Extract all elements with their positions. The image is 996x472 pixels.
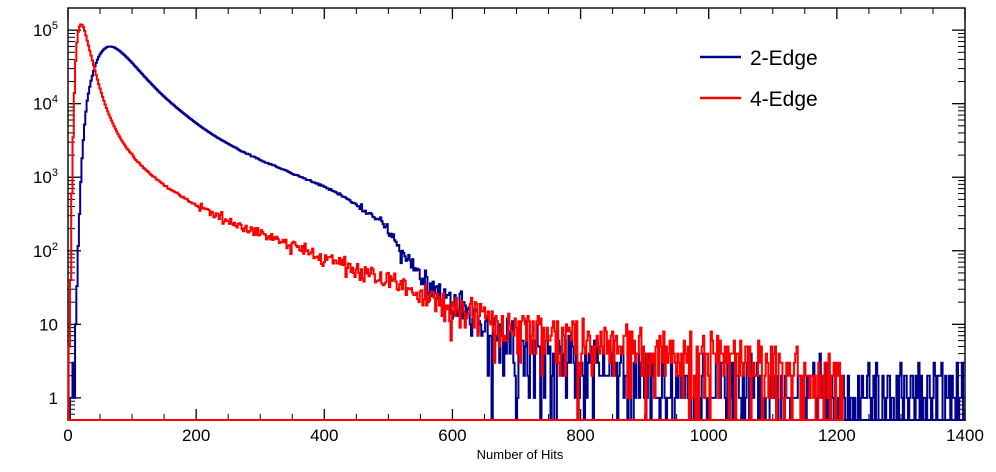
x-tick-label: 1400 — [946, 426, 984, 445]
legend-label-4-edge: 4-Edge — [750, 88, 818, 111]
x-axis-title: Number of Hits — [477, 447, 564, 462]
y-tick-label: 103 — [33, 167, 58, 187]
histogram-plot: 0200400600800100012001400 11010210310410… — [0, 0, 996, 472]
x-axis-tick-labels: 0200400600800100012001400 — [63, 426, 984, 445]
data-series-group — [69, 24, 966, 420]
chart-legend: 2-Edge4-Edge — [700, 47, 818, 111]
chart-canvas: 0200400600800100012001400 11010210310410… — [0, 0, 996, 472]
series-line-2-edge — [70, 46, 966, 420]
y-tick-label: 1 — [49, 389, 58, 408]
y-tick-label: 105 — [33, 20, 58, 40]
y-tick-label: 102 — [33, 241, 58, 261]
y-axis-tick-labels: 110102103104105 — [33, 20, 58, 408]
x-tick-label: 1200 — [818, 426, 856, 445]
y-tick-label: 104 — [33, 94, 58, 114]
x-tick-label: 600 — [438, 426, 466, 445]
series-line-4-edge — [69, 24, 844, 420]
x-tick-label: 200 — [182, 426, 210, 445]
x-tick-label: 400 — [310, 426, 338, 445]
x-tick-label: 1000 — [690, 426, 728, 445]
x-tick-label: 800 — [566, 426, 594, 445]
legend-label-2-edge: 2-Edge — [750, 47, 818, 70]
y-tick-label: 10 — [39, 315, 58, 334]
x-tick-label: 0 — [63, 426, 72, 445]
